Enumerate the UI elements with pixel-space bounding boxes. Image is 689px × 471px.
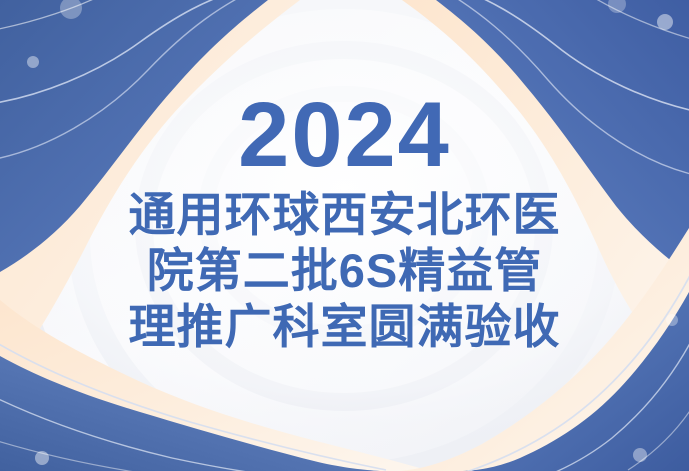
year-title: 2024 bbox=[238, 92, 451, 179]
poster-canvas: 2024 通用环球西安北环医 院第二批6S精益管 理推广科室圆满验收 bbox=[0, 0, 689, 471]
headline-line-2: 院第二批6S精益管 bbox=[147, 247, 543, 294]
poster-content: 2024 通用环球西安北环医 院第二批6S精益管 理推广科室圆满验收 bbox=[0, 0, 689, 471]
headline-line-1: 通用环球西安北环医 bbox=[129, 191, 561, 238]
headline-line-3: 理推广科室圆满验收 bbox=[129, 303, 561, 350]
headline-block: 通用环球西安北环医 院第二批6S精益管 理推广科室圆满验收 bbox=[129, 191, 561, 350]
